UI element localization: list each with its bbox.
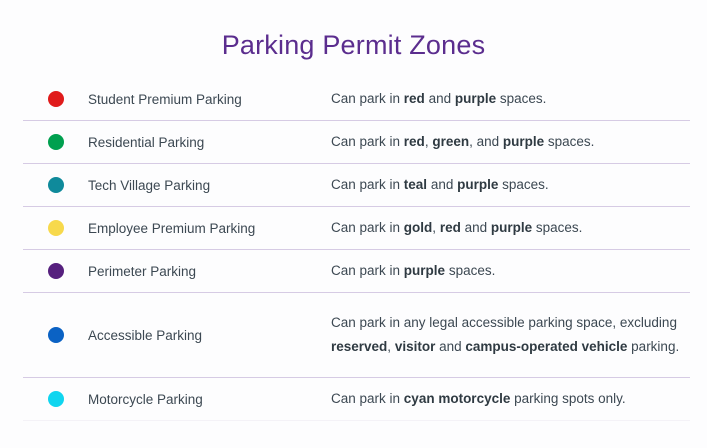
zone-name: Accessible Parking [88, 326, 331, 345]
zone-name: Motorcycle Parking [88, 390, 331, 409]
table-row: Motorcycle Parking Can park in cyan moto… [23, 378, 690, 421]
zone-description: Can park in cyan motorcycle parking spot… [331, 387, 690, 411]
zone-name: Tech Village Parking [88, 176, 331, 195]
table-row: Employee Premium Parking Can park in gol… [23, 207, 690, 250]
swatch-cell [23, 220, 88, 236]
swatch-cell [23, 91, 88, 107]
zone-name: Perimeter Parking [88, 262, 331, 281]
table-row: Residential Parking Can park in red, gre… [23, 121, 690, 164]
zone-description: Can park in teal and purple spaces. [331, 173, 690, 197]
swatch-cell [23, 134, 88, 150]
zone-description: Can park in any legal accessible parking… [331, 311, 690, 359]
table-row: Student Premium Parking Can park in red … [23, 78, 690, 121]
table-row: Perimeter Parking Can park in purple spa… [23, 250, 690, 293]
table-row: Accessible Parking Can park in any legal… [23, 293, 690, 378]
table-row: Tech Village Parking Can park in teal an… [23, 164, 690, 207]
cyan-zone-swatch [48, 391, 64, 407]
zone-name: Student Premium Parking [88, 90, 331, 109]
swatch-cell [23, 327, 88, 343]
swatch-cell [23, 391, 88, 407]
page-title: Parking Permit Zones [0, 0, 707, 62]
permit-zone-table: Student Premium Parking Can park in red … [0, 78, 707, 421]
red-zone-swatch [48, 91, 64, 107]
zone-description: Can park in gold, red and purple spaces. [331, 216, 690, 240]
zone-name: Employee Premium Parking [88, 219, 331, 238]
parking-permit-zones-page: Parking Permit Zones Student Premium Par… [0, 0, 707, 448]
swatch-cell [23, 177, 88, 193]
teal-zone-swatch [48, 177, 64, 193]
gold-zone-swatch [48, 220, 64, 236]
swatch-cell [23, 263, 88, 279]
purple-zone-swatch [48, 263, 64, 279]
zone-description: Can park in red and purple spaces. [331, 87, 690, 111]
blue-zone-swatch [48, 327, 64, 343]
zone-description: Can park in red, green, and purple space… [331, 130, 690, 154]
zone-description: Can park in purple spaces. [331, 259, 690, 283]
green-zone-swatch [48, 134, 64, 150]
zone-name: Residential Parking [88, 133, 331, 152]
